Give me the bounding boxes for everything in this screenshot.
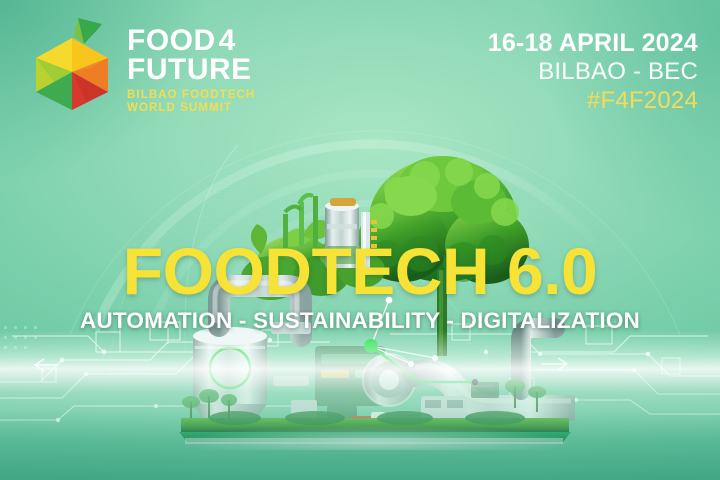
bottom-shade [0, 410, 720, 480]
event-dates: 16-18 APRIL 2024 [488, 30, 698, 57]
poster-canvas: FOOD4 FUTURE BILBAO FOODTECH WORLD SUMMI… [0, 0, 720, 480]
brand-logo[interactable]: FOOD4 FUTURE BILBAO FOODTECH WORLD SUMMI… [26, 14, 255, 116]
brand-line-2: FUTURE [127, 56, 255, 84]
event-hashtag: #F4F2024 [488, 88, 698, 115]
brand-line-1: FOOD4 [127, 27, 255, 55]
brand-tagline-line-2: WORLD SUMMIT [127, 102, 255, 116]
brand-tagline-line-1: BILBAO FOODTECH [127, 89, 255, 103]
event-info-block: 16-18 APRIL 2024 BILBAO - BEC #F4F2024 [488, 30, 698, 115]
brand-tagline: BILBAO FOODTECH WORLD SUMMIT [127, 89, 255, 116]
broccoli-tree [357, 156, 529, 356]
food4future-cube-icon [26, 14, 118, 114]
event-venue: BILBAO - BEC [488, 59, 698, 86]
brand-logo-text: FOOD4 FUTURE BILBAO FOODTECH WORLD SUMMI… [127, 14, 255, 116]
